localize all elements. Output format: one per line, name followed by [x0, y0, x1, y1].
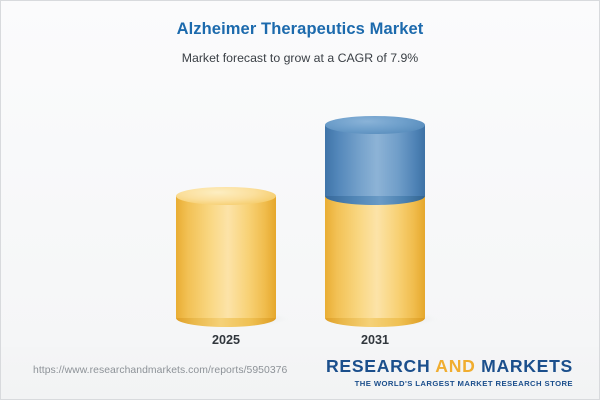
cylinder-2031 [325, 125, 425, 318]
brand-wordmark: RESEARCH AND MARKETS [326, 356, 573, 376]
page-title: Alzheimer Therapeutics Market [1, 19, 599, 39]
bar-group-2025: USD 4.92 Billion 2025 [176, 81, 276, 346]
cylinder-segment-growth-2031 [325, 125, 425, 196]
category-label-2025: 2025 [212, 333, 240, 348]
cylinder-top-ellipse [325, 116, 425, 134]
brand-markets-text: MARKETS [476, 356, 573, 376]
report-url[interactable]: https://www.researchandmarkets.com/repor… [33, 365, 287, 376]
cylinder-top-ellipse [176, 187, 276, 205]
chart-plot-area: USD 4.92 Billion 2025 USD 7.77 Billion [1, 81, 599, 346]
cylinder-segment-base-2031 [325, 196, 425, 318]
cylinder-body [325, 196, 425, 318]
bar-group-2031: USD 7.77 Billion 2031 [325, 81, 425, 346]
category-label-2031: 2031 [361, 333, 389, 348]
brand-and-text: AND [435, 356, 475, 376]
chart-subtitle: Market forecast to grow at a CAGR of 7.9… [1, 39, 599, 66]
cylinder-body [176, 196, 276, 318]
market-infographic: Alzheimer Therapeutics Market Market for… [0, 0, 600, 400]
cylinder-body [325, 125, 425, 196]
chart-header: Alzheimer Therapeutics Market Market for… [1, 1, 599, 66]
cylinder-2025 [176, 196, 276, 318]
footer: https://www.researchandmarkets.com/repor… [1, 347, 599, 399]
brand-research-text: RESEARCH [326, 356, 435, 376]
brand-tagline: THE WORLD'S LARGEST MARKET RESEARCH STOR… [326, 376, 573, 389]
brand-logo: RESEARCH AND MARKETS THE WORLD'S LARGEST… [326, 356, 573, 389]
cylinder-segment-base-2025 [176, 196, 276, 318]
